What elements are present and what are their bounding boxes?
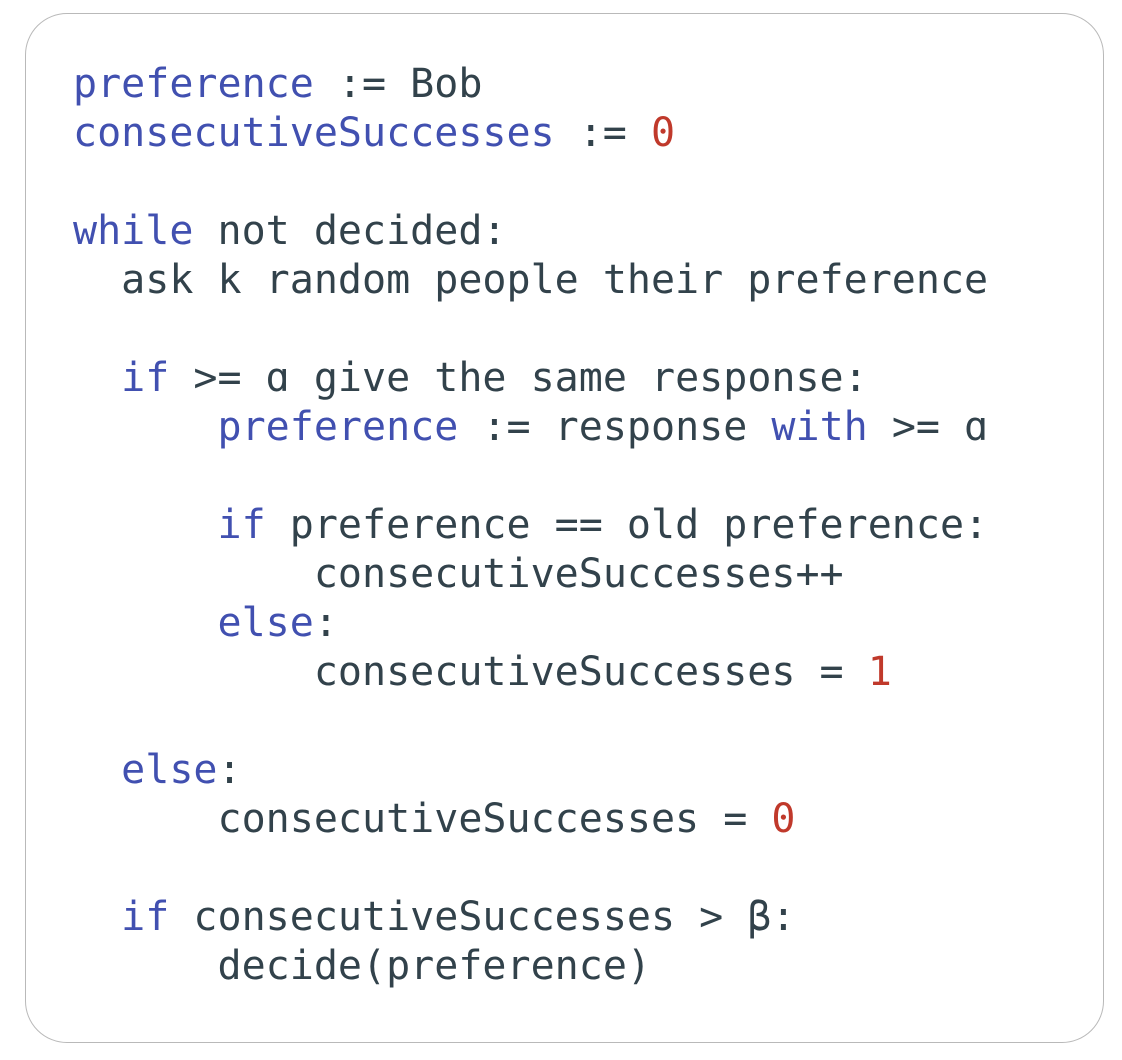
code-token-txt: consecutiveSuccesses = [314, 649, 868, 695]
code-token-name: preference [218, 404, 459, 450]
code-token-txt: consecutiveSuccesses++ [314, 551, 844, 597]
code-line [73, 158, 988, 207]
code-line: consecutiveSuccesses = 0 [73, 795, 988, 844]
code-snippet-card: preference := Bob consecutiveSuccesses :… [25, 13, 1104, 1043]
code-line: consecutiveSuccesses = 1 [73, 648, 988, 697]
code-token-txt: >= ɑ give the same response: [169, 355, 867, 401]
code-token-txt: : [314, 600, 338, 646]
code-line: while not decided: [73, 207, 988, 256]
code-line [73, 697, 988, 746]
code-indent [73, 600, 218, 646]
code-line: ask k random people their preference [73, 256, 988, 305]
code-line: preference := response with >= ɑ [73, 403, 988, 452]
code-token-kw: else [121, 747, 217, 793]
code-indent [73, 404, 218, 450]
code-token-txt: ask k random people their preference [121, 257, 988, 303]
code-token-txt: : [218, 747, 242, 793]
code-token-txt: decide(preference) [218, 943, 651, 989]
code-token-name: consecutiveSuccesses [73, 110, 555, 156]
code-line: else: [73, 746, 988, 795]
code-indent [73, 551, 314, 597]
code-indent [73, 649, 314, 695]
code-line [73, 305, 988, 354]
code-token-kw: while [73, 208, 193, 254]
code-token-txt: := Bob [314, 61, 483, 107]
code-token-kw: if [121, 355, 169, 401]
code-line: consecutiveSuccesses := 0 [73, 109, 988, 158]
code-token-kw: with [771, 404, 867, 450]
code-token-txt: >= ɑ [868, 404, 988, 450]
code-line: preference := Bob [73, 60, 988, 109]
code-token-txt: consecutiveSuccesses = [218, 796, 772, 842]
code-token-num: 0 [651, 110, 675, 156]
code-token-num: 1 [868, 649, 892, 695]
code-line: decide(preference) [73, 942, 988, 991]
code-indent [73, 257, 121, 303]
code-indent [73, 355, 121, 401]
code-token-txt: consecutiveSuccesses > β: [169, 894, 795, 940]
code-token-txt: := [555, 110, 651, 156]
code-line: else: [73, 599, 988, 648]
code-token-kw: else [218, 600, 314, 646]
code-indent [73, 502, 218, 548]
code-line: if preference == old preference: [73, 501, 988, 550]
code-line: consecutiveSuccesses++ [73, 550, 988, 599]
code-indent [73, 943, 218, 989]
code-token-kw: if [218, 502, 266, 548]
code-line: if consecutiveSuccesses > β: [73, 893, 988, 942]
code-token-num: 0 [771, 796, 795, 842]
pseudocode-block: preference := Bob consecutiveSuccesses :… [73, 60, 988, 991]
code-line [73, 844, 988, 893]
code-token-txt: not decided: [193, 208, 506, 254]
code-token-txt: := response [458, 404, 771, 450]
code-token-name: preference [73, 61, 314, 107]
code-indent [73, 894, 121, 940]
code-token-kw: if [121, 894, 169, 940]
code-indent [73, 796, 218, 842]
code-token-txt: preference == old preference: [266, 502, 988, 548]
code-line [73, 452, 988, 501]
code-indent [73, 747, 121, 793]
code-line: if >= ɑ give the same response: [73, 354, 988, 403]
